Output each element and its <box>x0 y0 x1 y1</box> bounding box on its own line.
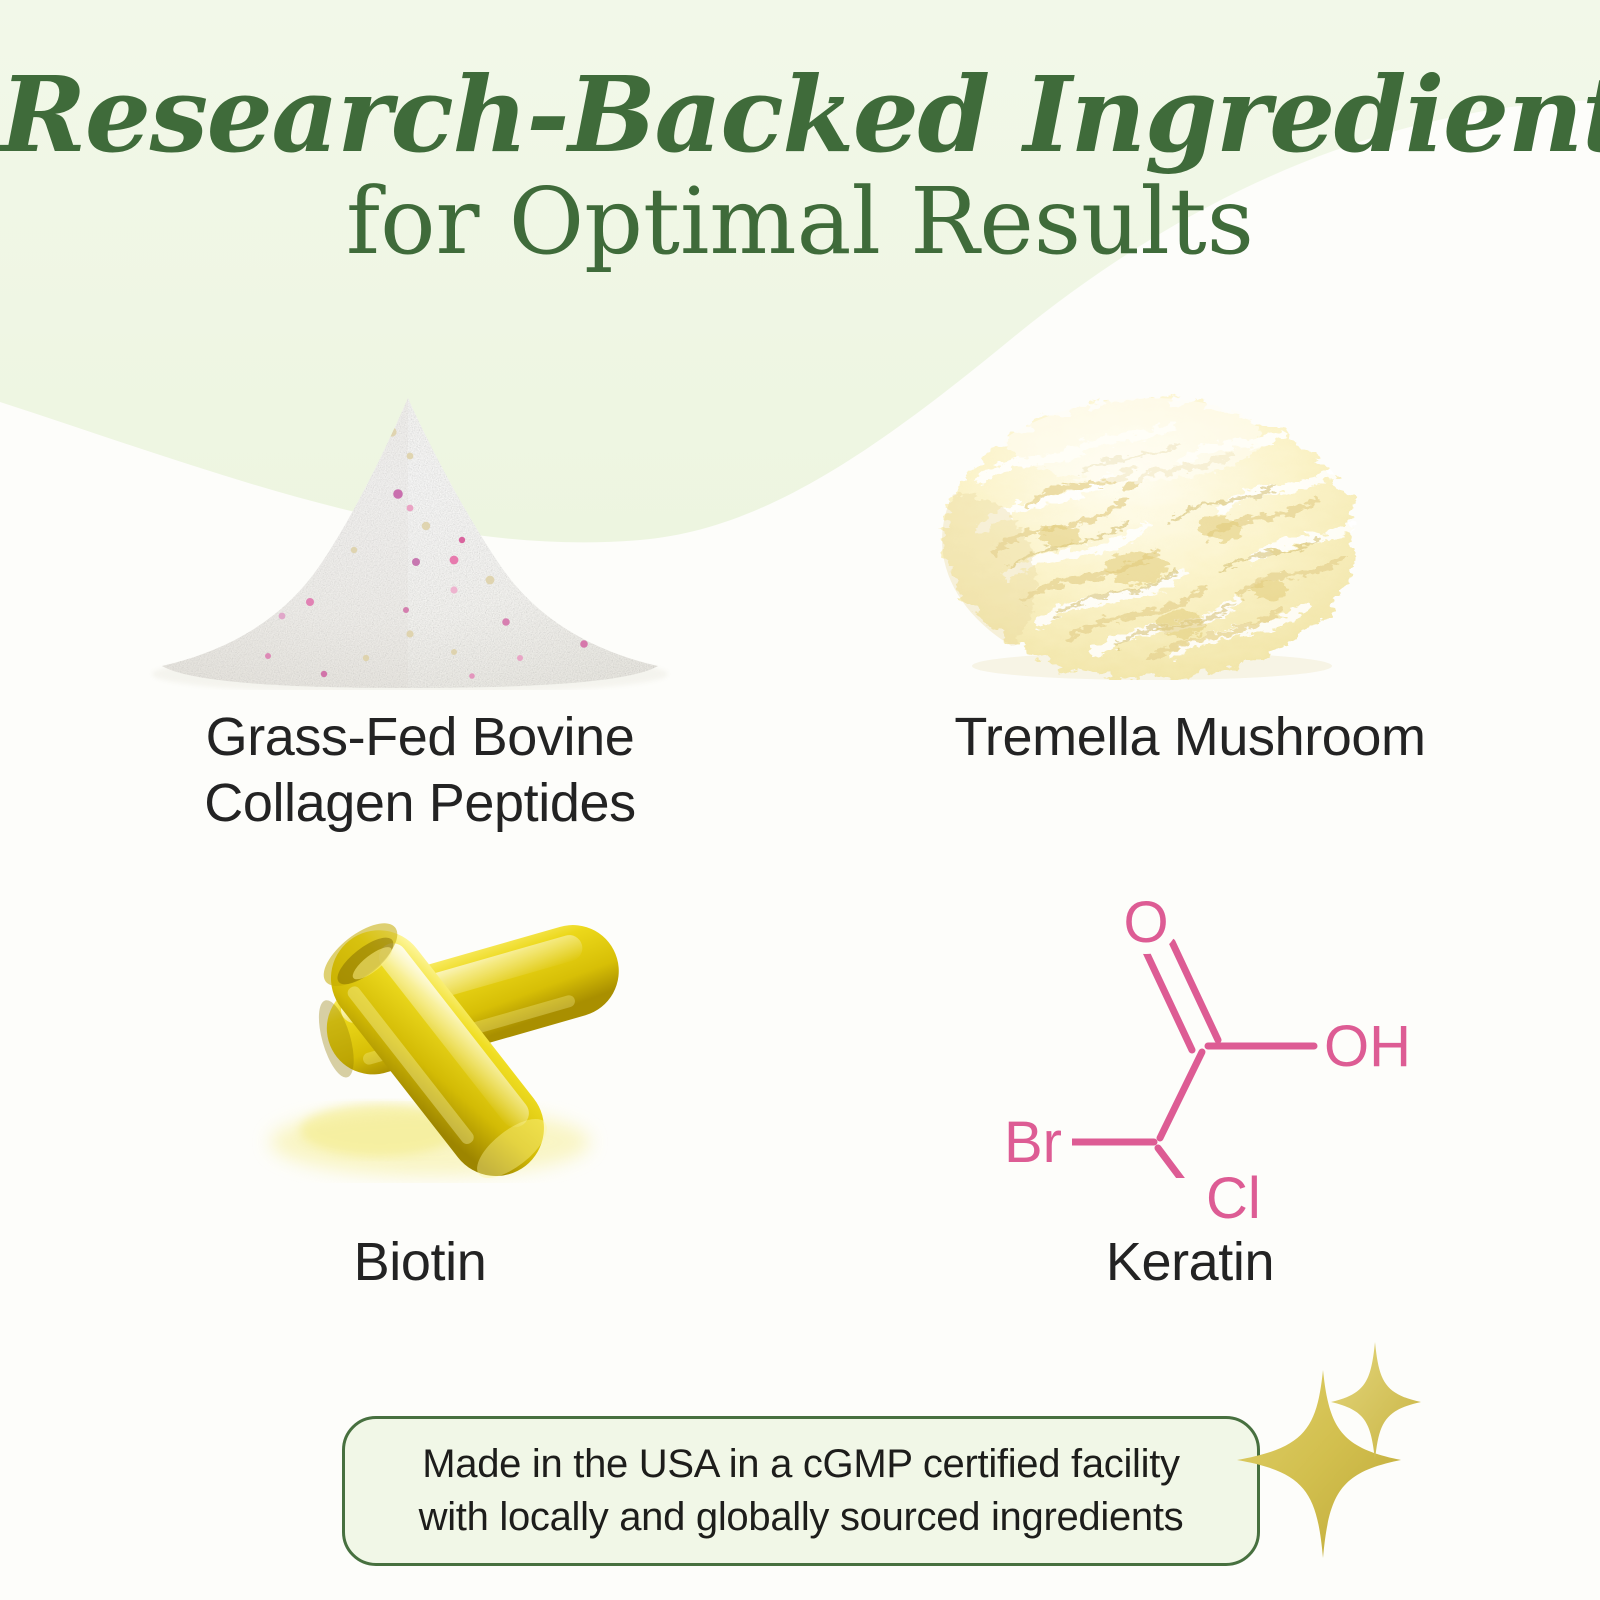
atom-label-Cl: Cl <box>1206 1166 1261 1220</box>
collagen-powder-pile-image <box>110 390 710 690</box>
ingredient-label-tremella: Tremella Mushroom <box>830 705 1550 771</box>
biotin-softgel-capsules-image <box>230 890 670 1200</box>
ingredient-card-keratin: O OH Br Cl Keratin <box>830 860 1550 1320</box>
page-title: Research-Backed Ingredients for Optimal … <box>0 62 1600 277</box>
page-title-line-1: Research-Backed Ingredients <box>0 62 1600 168</box>
ingredient-label-keratin: Keratin <box>830 1230 1550 1296</box>
atom-label-Br: Br <box>1004 1110 1062 1175</box>
ingredient-card-biotin: Biotin <box>60 880 780 1320</box>
page-title-line-2: for Optimal Results <box>0 168 1600 277</box>
manufacturing-badge-text: Made in the USA in a cGMP certified faci… <box>419 1438 1184 1544</box>
atom-label-O: O <box>1123 890 1168 955</box>
tremella-mushroom-image <box>920 360 1380 680</box>
infographic-canvas: Research-Backed Ingredients for Optimal … <box>0 0 1600 1600</box>
ingredient-card-tremella: Tremella Mushroom <box>830 360 1550 830</box>
ingredient-card-collagen: Grass-Fed Bovine Collagen Peptides <box>60 380 780 850</box>
sparkle-decoration <box>1215 1320 1445 1580</box>
manufacturing-badge: Made in the USA in a cGMP certified faci… <box>342 1416 1260 1566</box>
keratin-chemical-structure-diagram: O OH Br Cl <box>950 870 1430 1220</box>
ingredient-label-collagen: Grass-Fed Bovine Collagen Peptides <box>60 705 780 837</box>
ingredient-label-biotin: Biotin <box>60 1230 780 1296</box>
atom-label-OH: OH <box>1324 1014 1411 1079</box>
